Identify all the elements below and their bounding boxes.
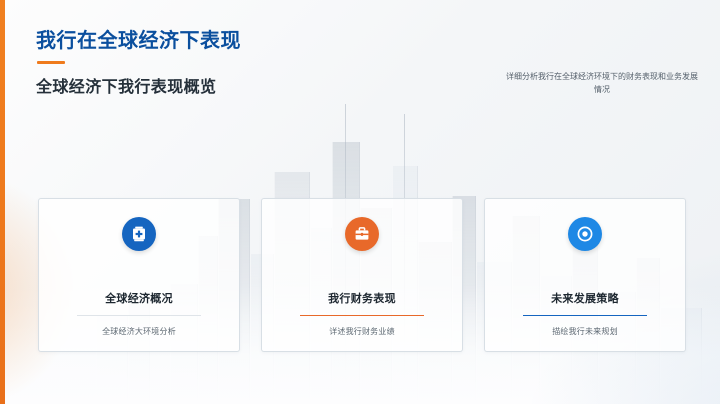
card-divider [77,315,201,316]
card-financial-performance[interactable]: 我行财务表现 详述我行财务业绩 [261,198,463,352]
briefcase-icon [345,217,379,251]
card-global-economy[interactable]: 全球经济概况 全球经济大环境分析 [38,198,240,352]
card-divider [300,315,424,316]
card-divider [523,315,647,316]
title-underline [37,61,65,64]
card-title: 全球经济概况 [105,290,173,306]
intro-paragraph: 详细分析我行在全球经济环境下的财务表现和业务发展情况 [506,70,698,96]
slide-canvas: 我行在全球经济下表现 全球经济下我行表现概览 详细分析我行在全球经济环境下的财务… [0,0,720,404]
page-title: 我行在全球经济下表现 [36,24,241,53]
card-description: 全球经济大环境分析 [102,326,176,337]
card-future-strategy[interactable]: 未来发展策略 描绘我行未来规划 [484,198,686,352]
orange-accent-bar [0,0,5,404]
slide-header: 我行在全球经济下表现 全球经济下我行表现概览 [36,24,241,97]
target-circle-icon [568,217,602,251]
card-row: 全球经济概况 全球经济大环境分析 我行财务表现 详述我行财务业绩 [38,198,686,352]
page-subtitle: 全球经济下我行表现概览 [36,73,241,97]
card-description: 描绘我行未来规划 [552,326,618,337]
card-title: 未来发展策略 [551,290,619,306]
hospital-cross-icon [122,217,156,251]
card-description: 详述我行财务业绩 [329,326,395,337]
card-title: 我行财务表现 [328,290,396,306]
